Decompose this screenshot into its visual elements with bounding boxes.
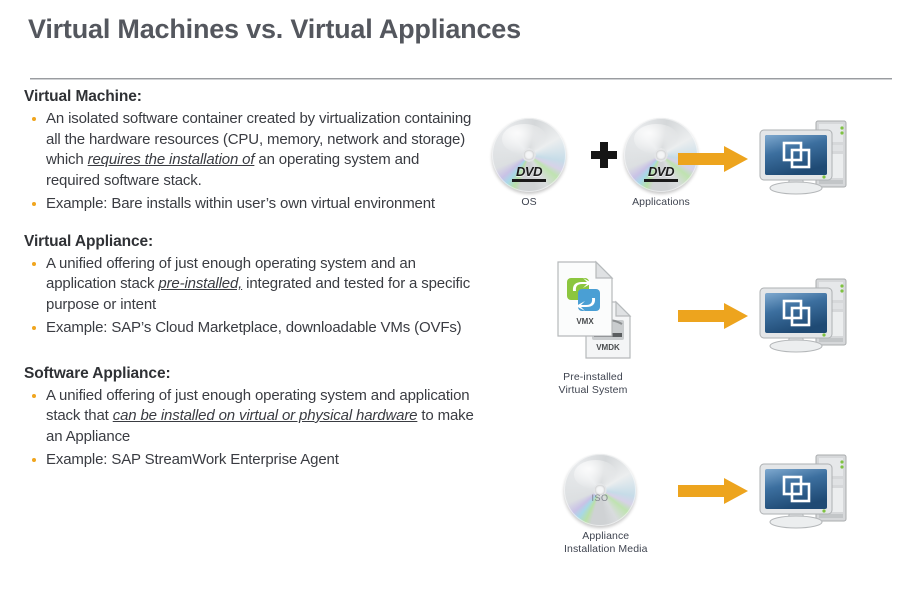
figure-preinstalled-virtual-system: VMDK VMX Pre-installed Virtual System	[550, 258, 636, 397]
section-heading: Virtual Machine:	[24, 88, 476, 106]
section-heading: Virtual Appliance:	[24, 233, 476, 251]
bullet-text-pre: Example: SAP StreamWork Enterprise Agent	[46, 451, 339, 468]
diagram-row-virtual-machine: DVD OS DVD Applications	[478, 112, 918, 232]
figure-appliance-installation-media: ISO Appliance Installation Media	[564, 454, 648, 556]
figure-caption: OS	[492, 196, 566, 209]
page-title: Virtual Machines vs. Virtual Appliances	[28, 14, 521, 45]
figure-caption-line1: Pre-installed	[550, 371, 636, 384]
iso-disc-icon: ISO	[564, 454, 636, 526]
disc-label: DVD	[492, 164, 566, 179]
vmx-file-icon: VMX	[558, 262, 612, 336]
bullet-dot-icon	[32, 458, 36, 462]
arrow-right-icon	[678, 302, 750, 330]
dvd-disc-icon: DVD	[492, 118, 566, 192]
list-item: An isolated software container created b…	[24, 109, 476, 191]
disc-gloss	[634, 124, 678, 154]
disc-gloss	[574, 460, 617, 489]
svg-text:VMDK: VMDK	[596, 343, 620, 352]
diagram-row-software-appliance: ISO Appliance Installation Media	[478, 448, 918, 578]
section-virtual-appliance: Virtual Appliance: A unified offering of…	[24, 233, 476, 339]
figure-os-disc: DVD OS	[492, 118, 566, 209]
figure-caption-line2: Virtual System	[550, 384, 636, 397]
virtual-machine-server-icon	[756, 272, 852, 358]
bullet-text-pre: Example: Bare installs within user’s own…	[46, 195, 435, 212]
virtual-machine-server-icon	[756, 448, 852, 534]
bullet-dot-icon	[32, 202, 36, 206]
bullet-dot-icon	[32, 117, 36, 121]
bullet-text-pre: Example: SAP’s Cloud Marketplace, downlo…	[46, 319, 462, 336]
bullet-dot-icon	[32, 394, 36, 398]
content-text-column: Virtual Machine: An isolated software co…	[24, 88, 476, 474]
diagram-row-virtual-appliance: VMDK VMX Pre-installed Virtual System	[478, 258, 918, 398]
section-heading: Software Appliance:	[24, 365, 476, 383]
disc-label-underbar	[644, 179, 678, 182]
vm-files-icon: VMDK VMX	[550, 258, 636, 362]
bullet-text-emphasis: can be installed on virtual or physical …	[113, 407, 418, 424]
list-item: Example: SAP’s Cloud Marketplace, downlo…	[24, 318, 476, 339]
bullet-text-emphasis: requires the installation of	[88, 151, 255, 168]
disc-label: ISO	[564, 493, 636, 503]
section-virtual-machine: Virtual Machine: An isolated software co…	[24, 88, 476, 215]
bullet-dot-icon	[32, 262, 36, 266]
figure-caption: Applications	[624, 196, 698, 209]
virtual-machine-server-icon	[756, 114, 852, 200]
section-software-appliance: Software Appliance: A unified offering o…	[24, 365, 476, 471]
disc-label-underbar	[512, 179, 546, 182]
bullet-dot-icon	[32, 326, 36, 330]
svg-text:VMX: VMX	[576, 317, 594, 326]
figure-caption-line2: Installation Media	[564, 543, 648, 556]
bullet-list: An isolated software container created b…	[24, 109, 476, 215]
list-item: Example: SAP StreamWork Enterprise Agent	[24, 450, 476, 471]
bullet-list: A unified offering of just enough operat…	[24, 254, 476, 339]
plus-icon	[591, 142, 617, 168]
disc-gloss	[502, 124, 546, 154]
list-item: A unified offering of just enough operat…	[24, 386, 476, 448]
title-divider	[30, 78, 892, 80]
list-item: Example: Bare installs within user’s own…	[24, 194, 476, 215]
bullet-text-emphasis: pre-installed,	[158, 275, 242, 292]
disc-label: DVD	[624, 164, 698, 179]
arrow-right-icon	[678, 477, 750, 505]
figure-applications-disc: DVD Applications	[624, 118, 698, 209]
bullet-list: A unified offering of just enough operat…	[24, 386, 476, 471]
list-item: A unified offering of just enough operat…	[24, 254, 476, 316]
figure-caption-line1: Appliance	[564, 530, 648, 543]
